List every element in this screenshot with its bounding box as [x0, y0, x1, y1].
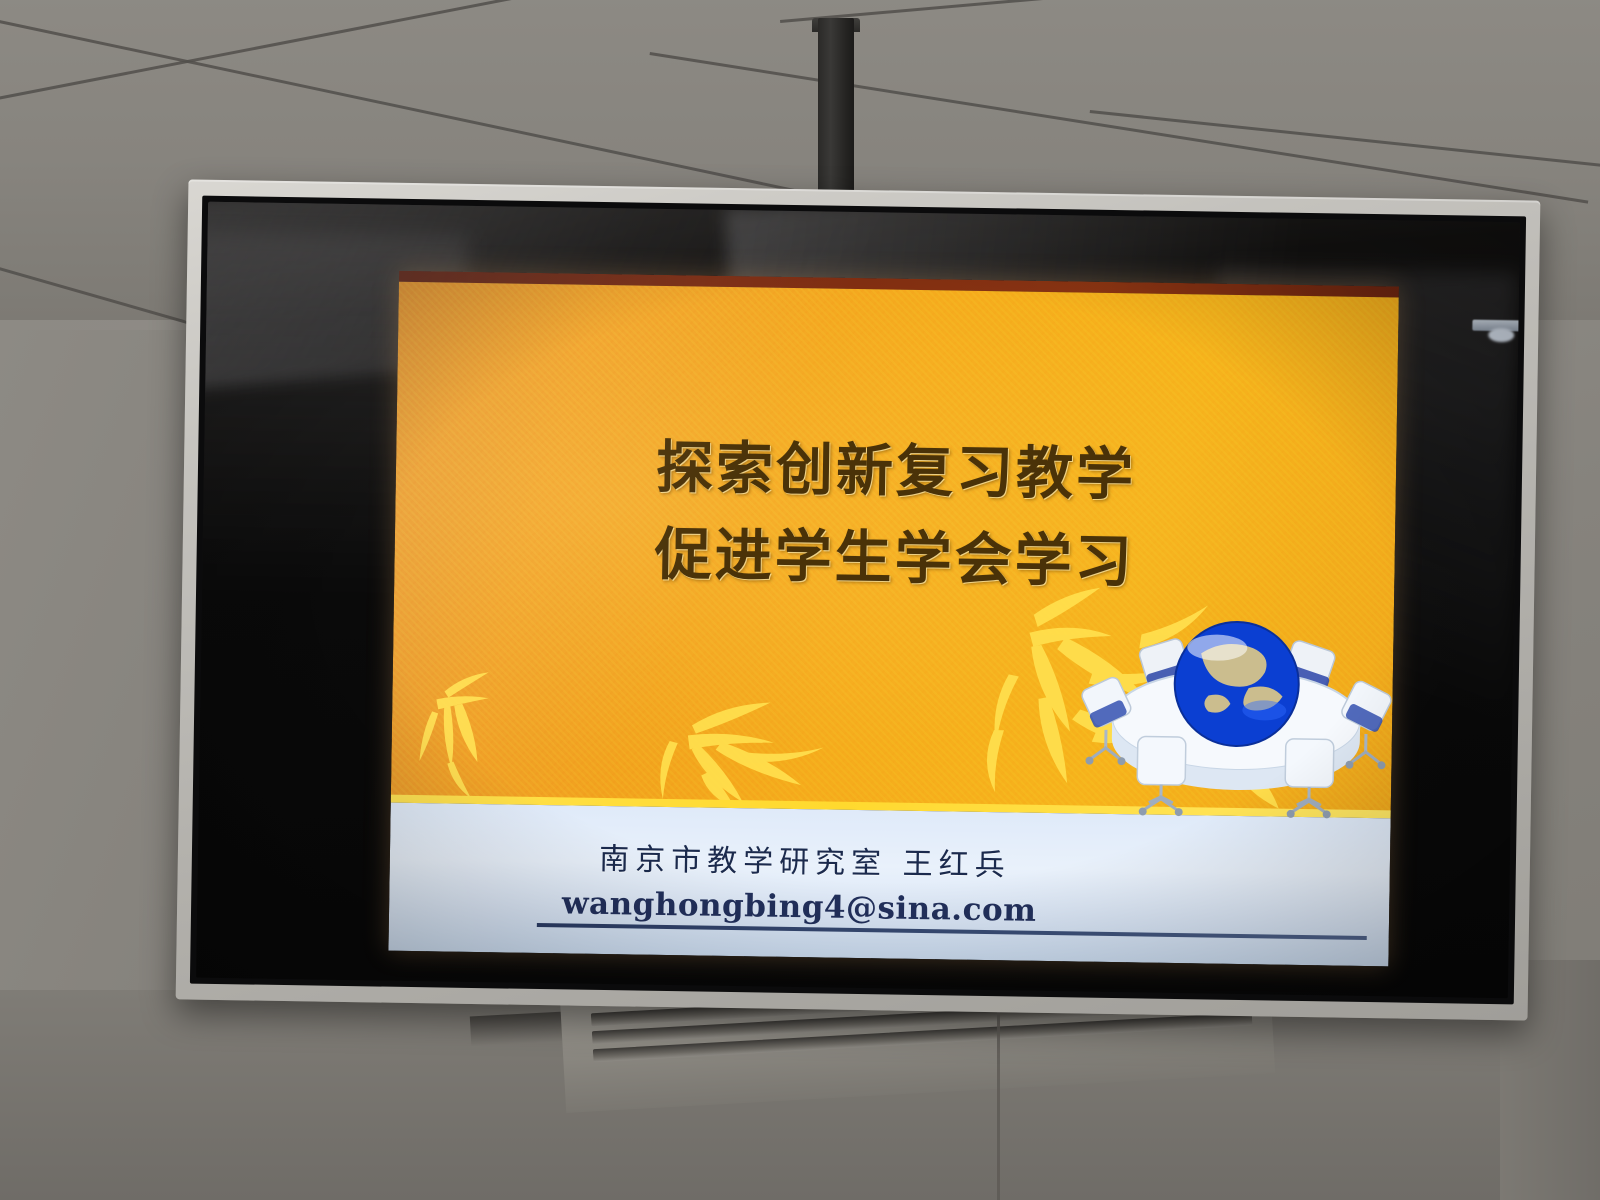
room-scene: 探索创新复习教学 促进学生学会学习 南京市教学研究室 王红兵 wanghongb…	[0, 0, 1600, 1200]
slide-title: 探索创新复习教学 促进学生学会学习	[394, 421, 1397, 610]
slide-title-line-2: 促进学生学会学习	[394, 507, 1395, 609]
ceiling-grid-line	[780, 0, 1597, 23]
ceiling-grid-line	[0, 18, 831, 200]
screen-reflection-dot-icon	[1488, 328, 1514, 342]
ceiling-grid-line	[0, 0, 893, 113]
globe-conference-table-icon	[1079, 590, 1395, 825]
slide-title-line-1: 探索创新复习教学	[395, 421, 1396, 523]
ceiling-mount-pole	[818, 18, 854, 203]
wall-mounted-display[interactable]: 探索创新复习教学 促进学生学会学习 南京市教学研究室 王红兵 wanghongb…	[176, 179, 1541, 1020]
display-panel[interactable]: 探索创新复习教学 促进学生学会学习 南京市教学研究室 王红兵 wanghongb…	[196, 202, 1520, 999]
presentation-slide[interactable]: 探索创新复习教学 促进学生学会学习 南京市教学研究室 王红兵 wanghongb…	[388, 271, 1399, 967]
hanging-cable	[997, 1012, 1000, 1200]
ceiling-grid-line	[1090, 110, 1600, 167]
ceiling-grid-line	[650, 52, 1589, 204]
